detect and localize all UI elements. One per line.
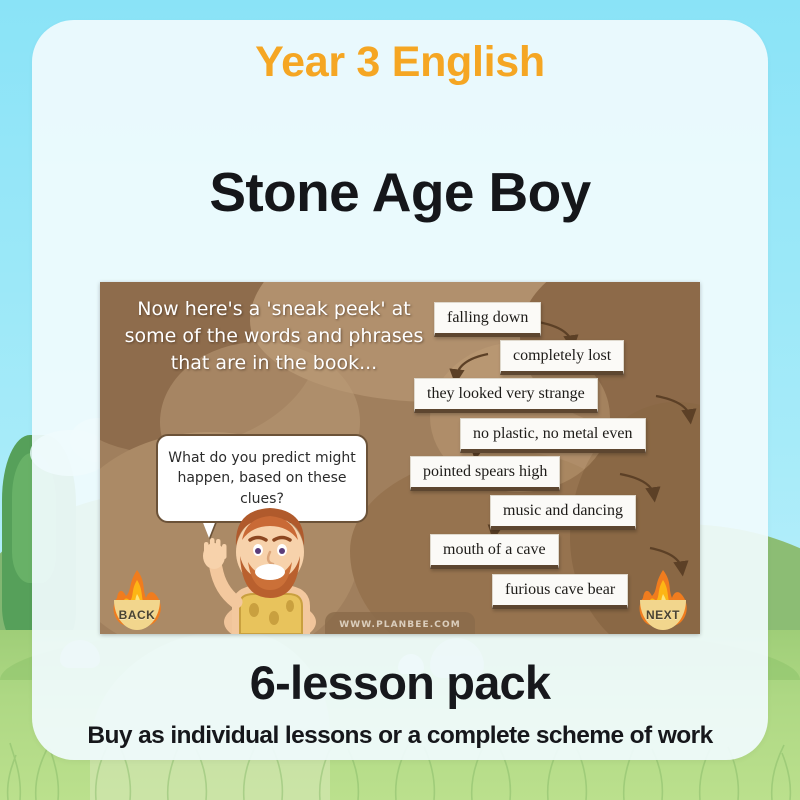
next-button-label: NEXT [634, 608, 692, 622]
phrase-box[interactable]: mouth of a cave [430, 534, 559, 569]
page-title: Stone Age Boy [0, 160, 800, 224]
buy-subheading: Buy as individual lessons or a complete … [0, 722, 800, 750]
pack-heading: 6-lesson pack [0, 655, 800, 710]
phrase-box[interactable]: pointed spears high [410, 456, 560, 491]
caveman-illustration [196, 494, 344, 634]
poster-canvas: Year 3 English Stone Age Boy Now here's … [0, 0, 800, 800]
subject-heading: Year 3 English [0, 38, 800, 87]
slide-heading: Now here's a 'sneak peek' at some of the… [114, 296, 434, 377]
phrase-box[interactable]: falling down [434, 302, 541, 337]
watermark-text: WWW.PLANBEE.COM [339, 620, 461, 630]
phrase-box[interactable]: furious cave bear [492, 574, 628, 609]
phrase-box[interactable]: music and dancing [490, 495, 636, 530]
next-button[interactable]: NEXT [634, 568, 692, 630]
slide-preview[interactable]: Now here's a 'sneak peek' at some of the… [100, 282, 700, 634]
phrase-box[interactable]: no plastic, no metal even [460, 418, 646, 453]
back-button[interactable]: BACK [108, 568, 166, 630]
back-button-label: BACK [108, 608, 166, 622]
phrase-box[interactable]: completely lost [500, 340, 624, 375]
phrase-box[interactable]: they looked very strange [414, 378, 598, 413]
